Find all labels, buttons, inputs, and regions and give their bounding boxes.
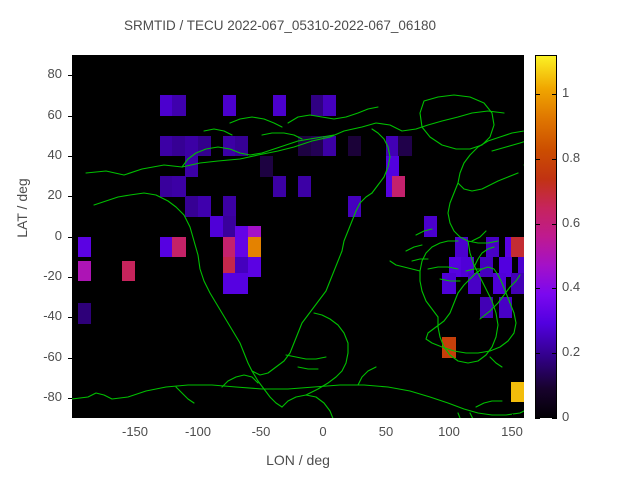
heatmap-cell [185, 136, 198, 157]
heatmap-cell [480, 297, 493, 318]
xtick-label: 0 [293, 424, 353, 439]
ytick-mark [68, 277, 72, 278]
heatmap-cell [499, 297, 512, 318]
heatmap-cell [235, 136, 248, 157]
heatmap-cell [348, 136, 361, 157]
heatmap-cell [260, 156, 273, 177]
heatmap-cell [78, 303, 91, 324]
heatmap-cell [493, 273, 506, 294]
ytick-label: 80 [14, 66, 62, 81]
heatmap-cell [223, 196, 236, 217]
y-axis-label: LAT / deg [14, 148, 30, 268]
heatmap-cell [172, 136, 185, 157]
heatmap-cell [172, 176, 185, 197]
heatmap-cell [78, 237, 91, 258]
xtick-mark [386, 414, 387, 418]
heatmap-cell [468, 273, 481, 294]
colorbar-tick-mark [552, 159, 557, 160]
xtick-label: 150 [482, 424, 542, 439]
heatmap-cell [398, 136, 411, 157]
heatmap-cell [386, 156, 399, 177]
map-axes[interactable] [72, 55, 524, 418]
heatmap-cell [298, 136, 311, 157]
heatmap-cell [185, 196, 198, 217]
colorbar-tick-label: 0.4 [562, 279, 580, 294]
heatmap-cell [223, 273, 236, 294]
heatmap-cell [223, 95, 236, 116]
heatmap-cell [223, 237, 236, 258]
heatmap-cell [160, 95, 173, 116]
heatmap-cell [424, 216, 437, 237]
x-axis-label: LON / deg [72, 452, 524, 468]
heatmap-cell [172, 95, 185, 116]
colorbar-tick-mark [535, 94, 540, 95]
xtick-label: -100 [168, 424, 228, 439]
heatmap-cell [392, 176, 405, 197]
colorbar-tick-mark [535, 288, 540, 289]
ytick-mark [68, 156, 72, 157]
heatmap-cell [311, 95, 324, 116]
colorbar-gradient [536, 56, 556, 417]
xtick-label: 100 [419, 424, 479, 439]
ytick-label: 60 [14, 107, 62, 122]
colorbar-tick-mark [552, 224, 557, 225]
heatmap-cell [511, 382, 524, 403]
heatmap-cell [511, 273, 524, 294]
ytick-label: -20 [14, 268, 62, 283]
heatmap-cell-layer [72, 55, 524, 418]
heatmap-cell [442, 273, 455, 294]
heatmap-cell [480, 257, 493, 278]
heatmap-cell [235, 273, 248, 294]
heatmap-cell [223, 216, 236, 237]
heatmap-cell [311, 136, 324, 157]
heatmap-cell [160, 136, 173, 157]
colorbar-tick-label: 1 [562, 85, 569, 100]
xtick-mark [261, 414, 262, 418]
colorbar-tick-mark [535, 159, 540, 160]
heatmap-cell [248, 237, 261, 258]
heatmap-cell [160, 237, 173, 258]
xtick-label: -50 [231, 424, 291, 439]
ytick-mark [68, 75, 72, 76]
heatmap-cell [210, 216, 223, 237]
colorbar-tick-mark [535, 418, 540, 419]
heatmap-cell [235, 237, 248, 258]
heatmap-cell [348, 196, 361, 217]
xtick-mark [198, 414, 199, 418]
ytick-mark [68, 398, 72, 399]
colorbar-tick-mark [535, 353, 540, 354]
heatmap-cell [78, 261, 91, 282]
page-title: SRMTID / TECU 2022-067_05310-2022-067_06… [0, 18, 560, 33]
ytick-mark [68, 358, 72, 359]
xtick-mark [323, 414, 324, 418]
heatmap-cell [198, 136, 211, 157]
heatmap-cell [386, 136, 399, 157]
heatmap-cell [486, 237, 499, 258]
heatmap-cell [198, 196, 211, 217]
xtick-mark [512, 414, 513, 418]
colorbar-tick-mark [552, 353, 557, 354]
heatmap-cell [160, 176, 173, 197]
ytick-label: -80 [14, 389, 62, 404]
colorbar-tick-label: 0.6 [562, 215, 580, 230]
colorbar-tick-label: 0.2 [562, 344, 580, 359]
heatmap-cell [298, 176, 311, 197]
xtick-label: -150 [105, 424, 165, 439]
ytick-mark [68, 196, 72, 197]
heatmap-cell [323, 95, 336, 116]
colorbar-tick-mark [552, 94, 557, 95]
heatmap-cell [185, 156, 198, 177]
heatmap-cell [172, 237, 185, 258]
colorbar-tick-mark [552, 418, 557, 419]
heatmap-cell [122, 261, 135, 282]
heatmap-cell [442, 337, 455, 358]
ytick-mark [68, 116, 72, 117]
heatmap-figure: SRMTID / TECU 2022-067_05310-2022-067_06… [0, 0, 640, 480]
ytick-label: -60 [14, 349, 62, 364]
heatmap-cell [511, 237, 524, 258]
colorbar-tick-label: 0.8 [562, 150, 580, 165]
heatmap-cell [455, 237, 468, 258]
colorbar-tick-mark [535, 224, 540, 225]
ytick-mark [68, 237, 72, 238]
colorbar-tick-label: 0 [562, 409, 569, 424]
heatmap-cell [273, 95, 286, 116]
xtick-mark [135, 414, 136, 418]
xtick-mark [449, 414, 450, 418]
ytick-mark [68, 317, 72, 318]
heatmap-cell [223, 136, 236, 157]
heatmap-cell [248, 257, 261, 278]
colorbar-tick-mark [552, 288, 557, 289]
heatmap-cell [323, 136, 336, 157]
ytick-label: -40 [14, 308, 62, 323]
heatmap-cell [273, 176, 286, 197]
xtick-label: 50 [356, 424, 416, 439]
colorbar[interactable] [535, 55, 557, 418]
